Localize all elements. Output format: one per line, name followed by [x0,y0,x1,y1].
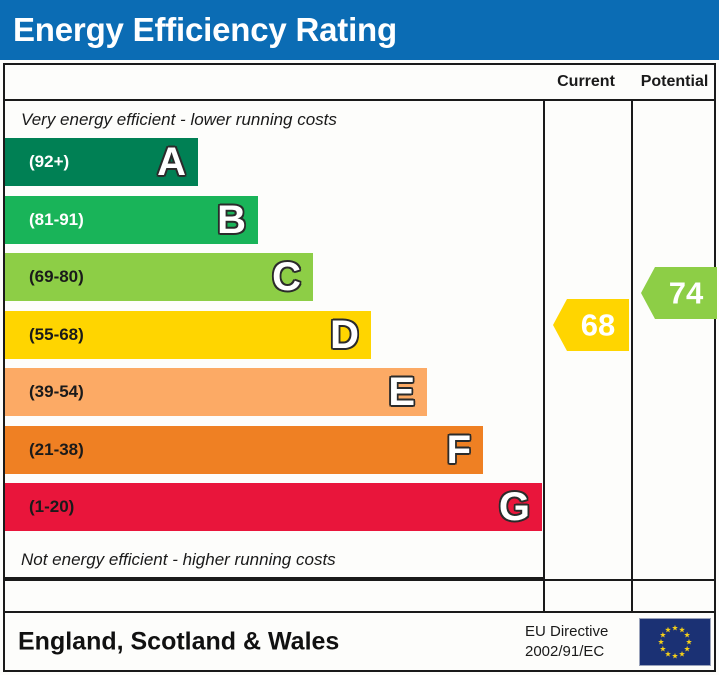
rating-marker-potential: 74 [641,267,717,319]
page-title: Energy Efficiency Rating [13,11,397,49]
column-header-potential: Potential [631,65,718,99]
eu-flag-stars-icon [640,619,710,665]
band-bar-d: (55-68)D [5,311,371,359]
rating-value-current: 68 [567,310,629,341]
band-range-f: (21-38) [29,440,84,460]
band-bar-e: (39-54)E [5,368,427,416]
footer-directive-label: EU Directive 2002/91/EC [525,621,608,662]
energy-efficiency-rating-chart: Energy Efficiency Rating Current Potenti… [0,0,719,675]
caption-bottom-rule [5,579,714,581]
column-divider-current [543,101,545,611]
band-letter-e: E [388,372,415,412]
column-divider-potential [631,101,633,611]
band-bar-f: (21-38)F [5,426,483,474]
eu-flag-icon [639,618,711,666]
band-bar-c: (69-80)C [5,253,313,301]
column-header-current: Current [543,65,629,99]
band-bar-g: (1-20)G [5,483,542,531]
caption-inefficient: Not energy efficient - higher running co… [5,541,543,579]
band-range-d: (55-68) [29,325,84,345]
band-letter-f: F [447,430,471,470]
band-range-g: (1-20) [29,497,74,517]
caption-efficient: Very energy efficient - lower running co… [5,102,543,138]
chart-body: Current Potential Very energy efficient … [3,63,716,613]
band-bar-a: (92+)A [5,138,198,186]
footer-directive-line2: 2002/91/EC [525,642,608,662]
rating-value-potential: 74 [655,278,717,309]
column-header-row: Current Potential [5,65,714,101]
footer-directive-line1: EU Directive [525,621,608,641]
band-letter-c: C [272,257,301,297]
band-range-b: (81-91) [29,210,84,230]
band-letter-b: B [217,200,246,240]
band-letter-g: G [499,487,530,527]
footer-region-label: England, Scotland & Wales [18,627,339,656]
chart-title-bar: Energy Efficiency Rating [0,0,719,60]
band-range-c: (69-80) [29,267,84,287]
band-range-e: (39-54) [29,382,84,402]
chart-footer: England, Scotland & Wales EU Directive 2… [3,613,716,672]
rating-marker-current: 68 [553,299,629,351]
band-bar-b: (81-91)B [5,196,258,244]
band-letter-a: A [157,142,186,182]
band-letter-d: D [330,315,359,355]
band-range-a: (92+) [29,152,69,172]
band-bar-group: (92+)A(81-91)B(69-80)C(55-68)D(39-54)E(2… [5,138,543,541]
